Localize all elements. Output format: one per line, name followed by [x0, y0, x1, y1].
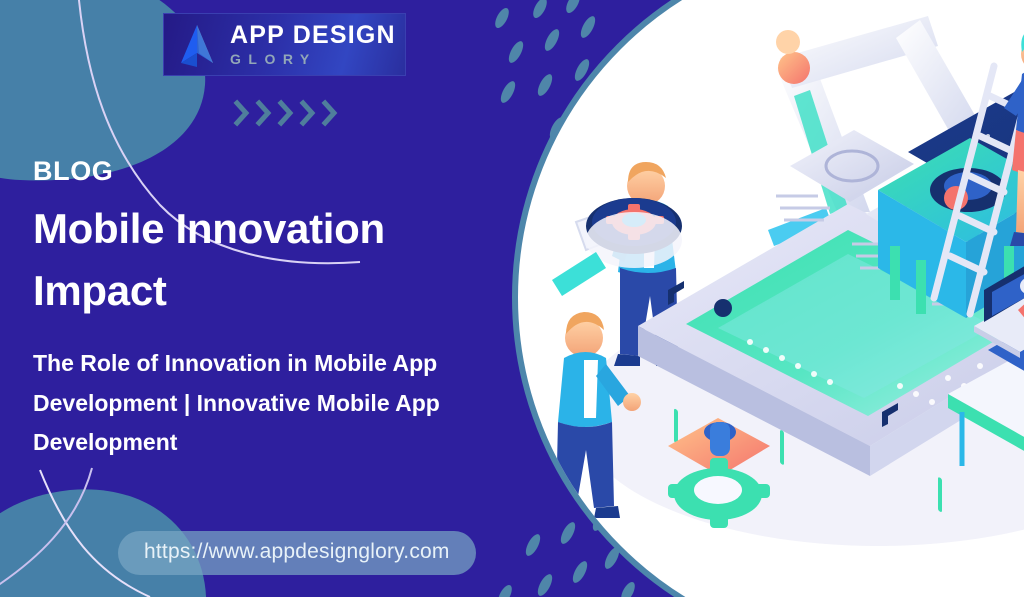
curve-line-bottom-left-2 — [0, 468, 92, 597]
illustration-circle — [512, 0, 1024, 597]
blog-kicker: BLOG — [33, 156, 113, 187]
page-subtitle: The Role of Innovation in Mobile App Dev… — [33, 344, 453, 463]
logo-subtitle: GLORY — [230, 52, 396, 66]
logo-title: APP DESIGN — [230, 23, 396, 48]
logo-text: APP DESIGN GLORY — [230, 23, 396, 66]
chevron-right-icon — [299, 99, 318, 127]
chevron-right-icon — [321, 99, 340, 127]
chevron-right-icon — [255, 99, 274, 127]
chevron-right-icon — [277, 99, 296, 127]
chevron-decoration — [233, 99, 340, 127]
app-development-illustration — [518, 0, 1024, 597]
site-logo[interactable]: APP DESIGN GLORY — [163, 13, 406, 76]
blog-banner: APP DESIGN GLORY BLOG Mobile Innovation … — [0, 0, 1024, 597]
chevron-right-icon — [233, 99, 252, 127]
website-url-pill[interactable]: https://www.appdesignglory.com — [118, 531, 476, 575]
phone-camera-dot — [714, 299, 732, 317]
page-title: Mobile Innovation Impact — [33, 198, 493, 322]
app-design-glory-logo-mark — [175, 23, 221, 67]
